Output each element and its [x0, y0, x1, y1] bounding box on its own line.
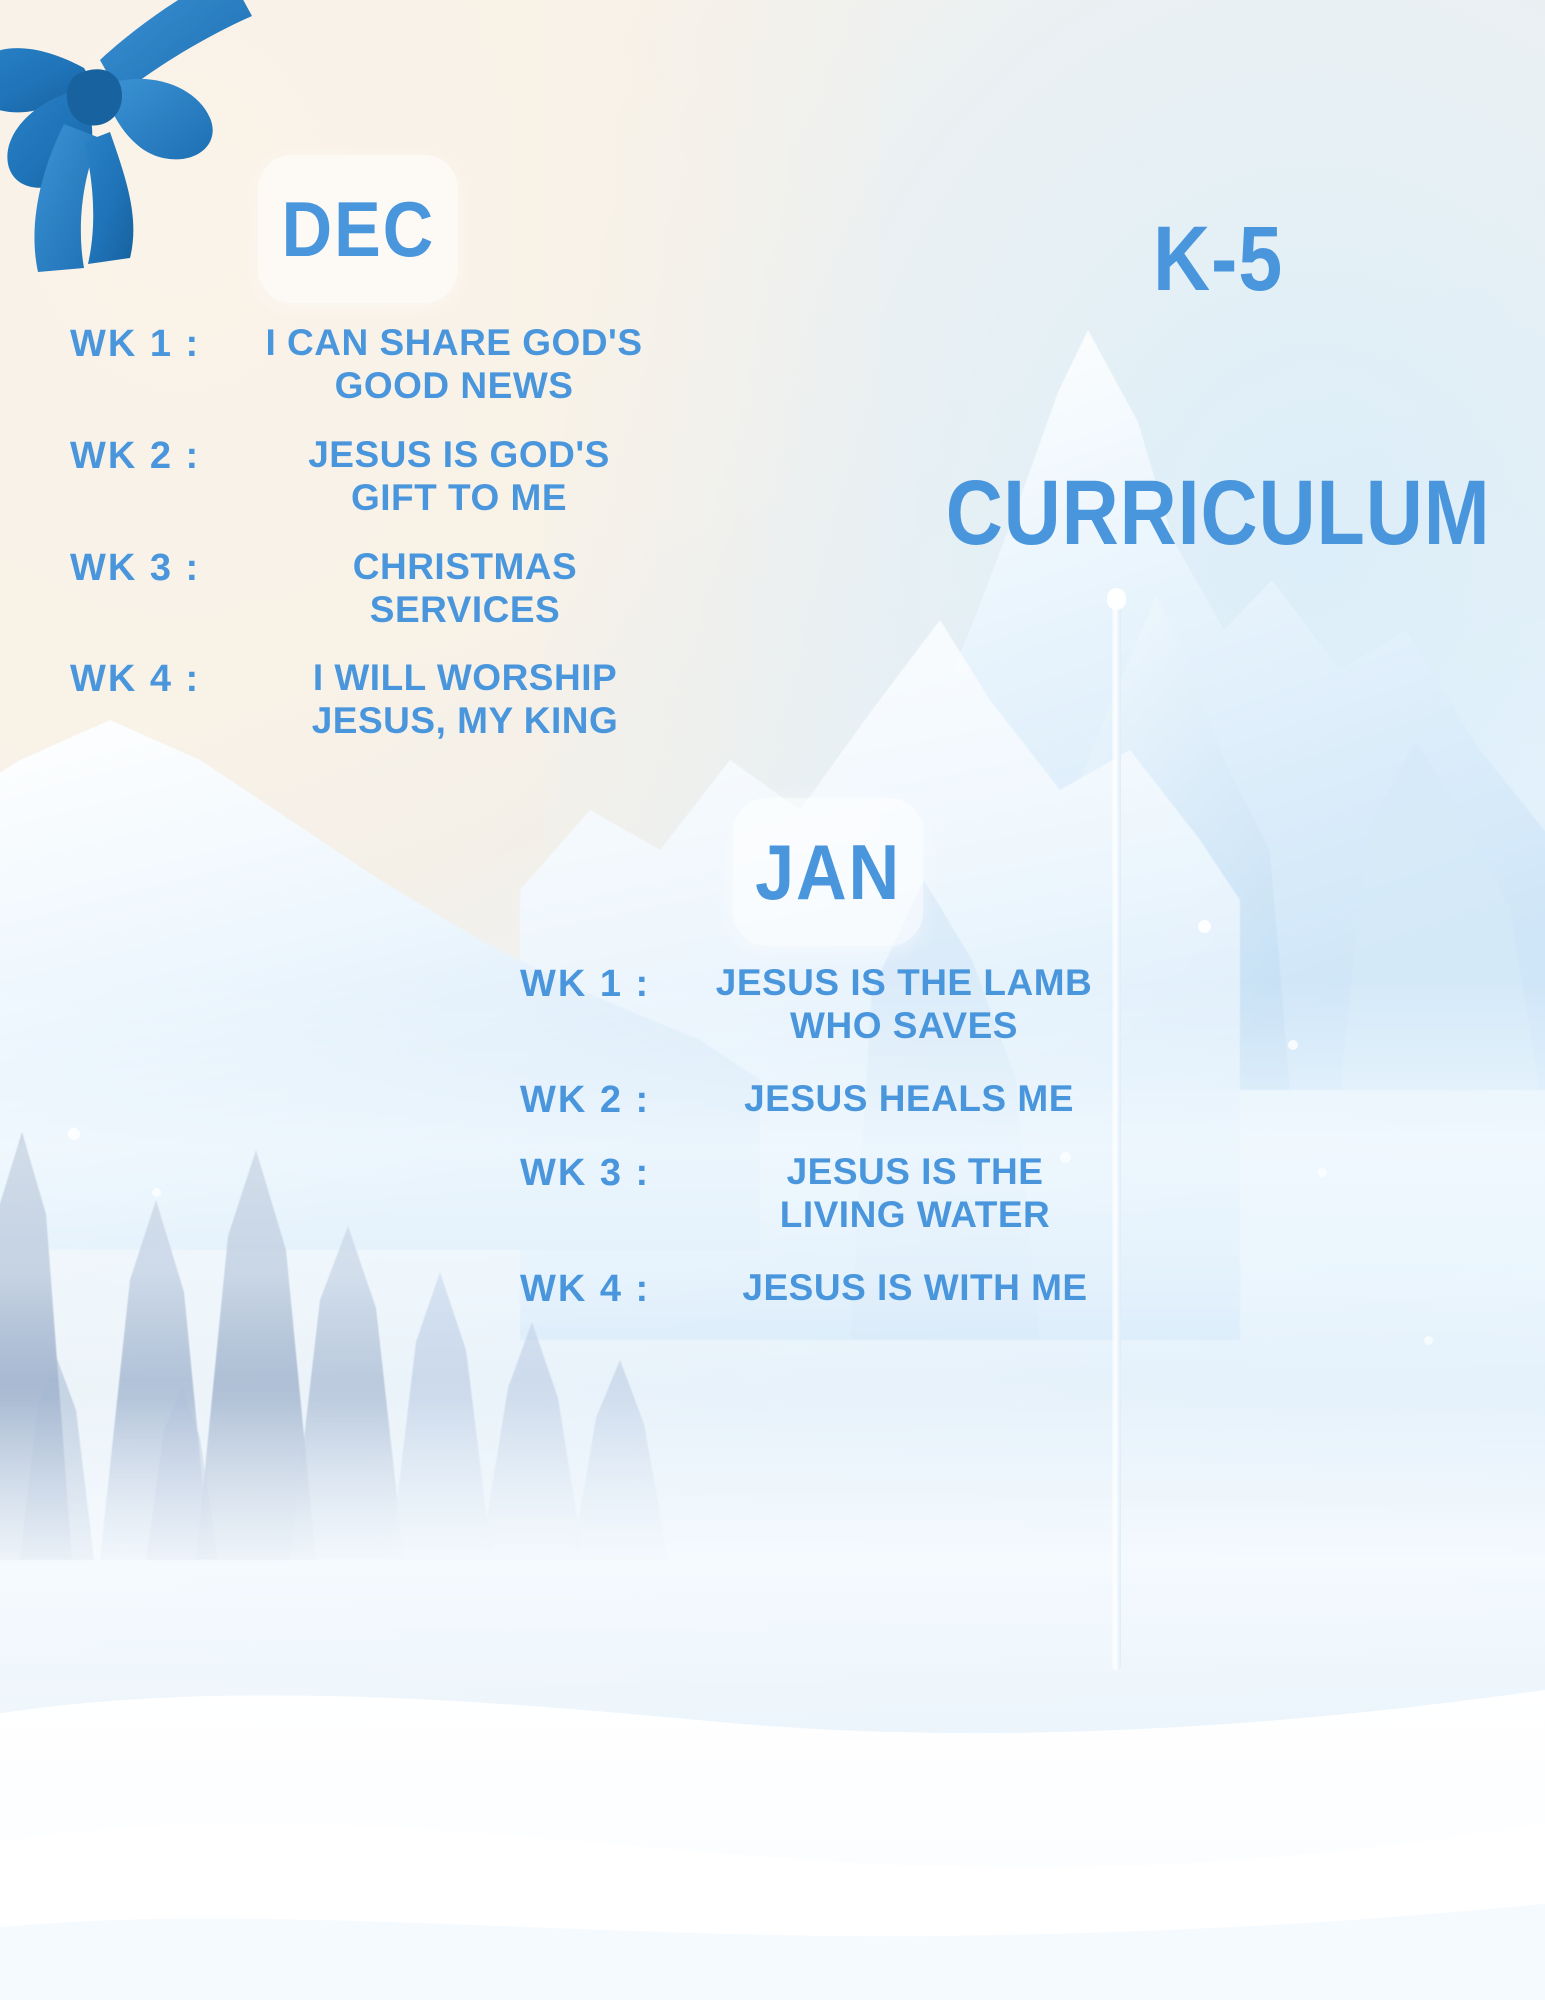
- title-line-1: K-5: [945, 217, 1490, 302]
- week-row: WK 4 : I WILL WORSHIP JESUS, MY KING: [70, 657, 670, 743]
- week-label: WK 4 :: [520, 1267, 710, 1310]
- week-label: WK 1 :: [520, 962, 688, 1005]
- week-label: WK 2 :: [70, 434, 248, 477]
- title-line-2: CURRICULUM: [945, 471, 1490, 556]
- week-row: WK 3 : CHRISTMAS SERVICES: [70, 546, 670, 632]
- week-label: WK 3 :: [520, 1151, 710, 1194]
- week-label: WK 3 :: [70, 546, 260, 589]
- week-topic: JESUS IS THE LAMB WHO SAVES: [688, 962, 1120, 1048]
- snowflake-speck-icon: [1318, 1168, 1327, 1177]
- page-title: K-5 CURRICULUM: [945, 48, 1490, 725]
- snowflake-speck-icon: [152, 1188, 161, 1197]
- week-label: WK 1 :: [70, 322, 238, 365]
- week-row: WK 2 : JESUS IS GOD'S GIFT TO ME: [70, 434, 670, 520]
- week-row: WK 1 : I CAN SHARE GOD'S GOOD NEWS: [70, 322, 670, 408]
- week-row: WK 2 : JESUS HEALS ME: [520, 1078, 1120, 1121]
- ribbon-bow-icon: [0, 0, 300, 312]
- snowflake-speck-icon: [1198, 920, 1211, 933]
- snowflake-speck-icon: [68, 1128, 80, 1140]
- month-label-dec: DEC: [281, 190, 435, 268]
- week-list-dec: WK 1 : I CAN SHARE GOD'S GOOD NEWS WK 2 …: [70, 322, 670, 769]
- week-topic: I CAN SHARE GOD'S GOOD NEWS: [238, 322, 670, 408]
- week-label: WK 2 :: [520, 1078, 698, 1121]
- month-card-jan: JAN: [733, 798, 923, 946]
- week-topic: JESUS IS THE LIVING WATER: [710, 1151, 1120, 1237]
- snowflake-speck-icon: [1424, 1336, 1433, 1345]
- month-card-dec: DEC: [258, 155, 458, 303]
- week-topic: JESUS IS GOD'S GIFT TO ME: [248, 434, 670, 520]
- week-topic: JESUS HEALS ME: [698, 1078, 1120, 1121]
- week-topic: CHRISTMAS SERVICES: [260, 546, 670, 632]
- week-row: WK 4 : JESUS IS WITH ME: [520, 1267, 1120, 1310]
- week-label: WK 4 :: [70, 657, 260, 700]
- curriculum-poster: K-5 CURRICULUM DEC WK 1 : I CAN SHARE GO…: [0, 0, 1545, 2000]
- month-label-jan: JAN: [755, 833, 901, 911]
- week-list-jan: WK 1 : JESUS IS THE LAMB WHO SAVES WK 2 …: [520, 962, 1120, 1340]
- snow-ground: [0, 1580, 1545, 2000]
- snowflake-speck-icon: [1288, 1040, 1298, 1050]
- week-row: WK 3 : JESUS IS THE LIVING WATER: [520, 1151, 1120, 1237]
- week-row: WK 1 : JESUS IS THE LAMB WHO SAVES: [520, 962, 1120, 1048]
- week-topic: JESUS IS WITH ME: [710, 1267, 1120, 1310]
- week-topic: I WILL WORSHIP JESUS, MY KING: [260, 657, 670, 743]
